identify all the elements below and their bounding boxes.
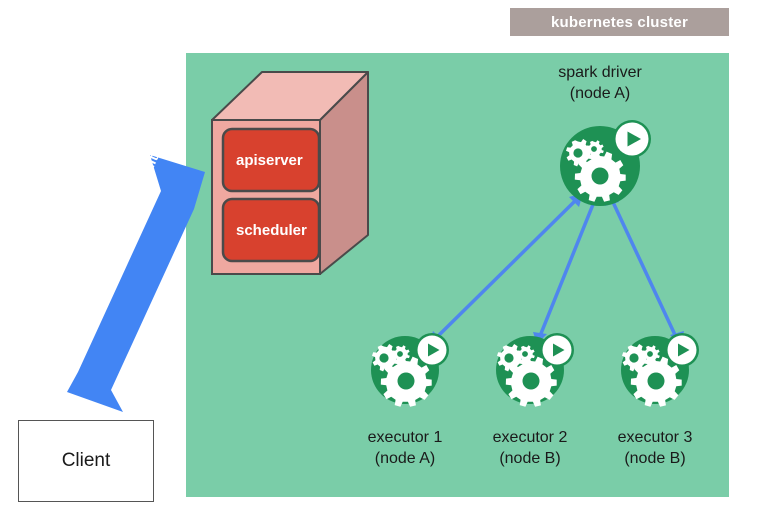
executor-1-sublabel: (node A) bbox=[375, 449, 435, 469]
client-label: Client bbox=[62, 450, 111, 472]
executor-3-label: executor 3 bbox=[618, 428, 693, 448]
executor-2-label: executor 2 bbox=[493, 428, 568, 448]
executor-3-sublabel: (node B) bbox=[624, 449, 685, 469]
client-box[interactable]: Client bbox=[18, 420, 154, 502]
scheduler-label: scheduler bbox=[236, 222, 307, 239]
kubernetes-cluster-badge-label: kubernetes cluster bbox=[551, 14, 688, 31]
diagram-canvas: kubernetes cluster apiserver scheduler s… bbox=[0, 0, 761, 516]
spark-driver-label: spark driver bbox=[558, 63, 642, 83]
executor-1-label: executor 1 bbox=[368, 428, 443, 448]
executor-2-sublabel: (node B) bbox=[499, 449, 560, 469]
control-plane-cube bbox=[212, 72, 368, 274]
kubernetes-cluster-badge: kubernetes cluster bbox=[510, 8, 729, 36]
apiserver-label: apiserver bbox=[236, 152, 303, 169]
spark-driver-sublabel: (node A) bbox=[570, 84, 630, 104]
